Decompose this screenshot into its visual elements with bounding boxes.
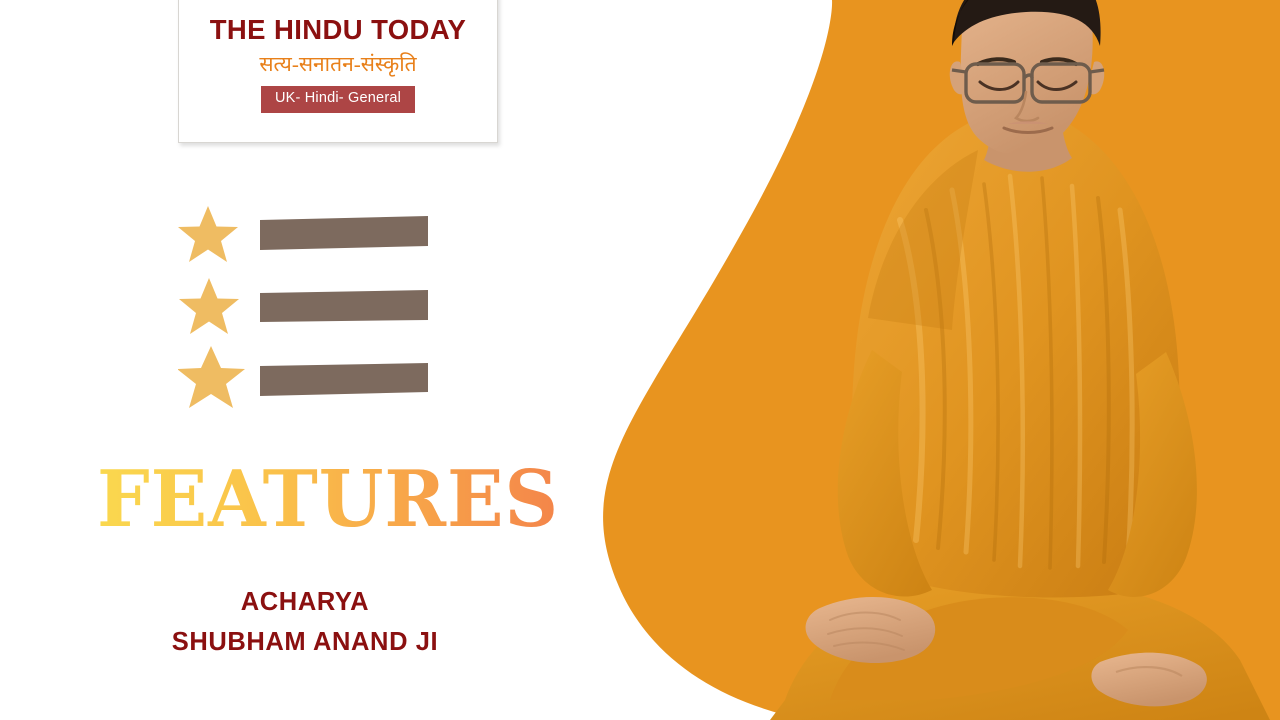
list-item: [179, 278, 428, 334]
star-icon: [178, 206, 238, 262]
headline-text: FEATURES: [97, 454, 559, 545]
artwork-illustration: [580, 0, 1280, 720]
bullet-list-graphic: [178, 196, 448, 414]
presenter-line-2: SHUBHAM ANAND JI: [40, 622, 570, 662]
star-icon: [179, 278, 239, 334]
poster-canvas: THE HINDU TODAY सत्य-सनातन-संस्कृति UK- …: [0, 0, 1280, 720]
headline-graphic: FEATURES: [88, 452, 568, 548]
placeholder-bar: [260, 216, 428, 250]
placeholder-bar: [260, 290, 428, 322]
masthead-card: THE HINDU TODAY सत्य-सनातन-संस्कृति UK- …: [178, 0, 498, 143]
status-badge: UK- Hindi- General: [261, 86, 415, 113]
artwork-panel: [580, 0, 1280, 720]
page-title: THE HINDU TODAY: [179, 0, 497, 45]
headline-wordmark: FEATURES: [88, 452, 568, 548]
list-item: [178, 206, 428, 262]
presenter-name: ACHARYA SHUBHAM ANAND JI: [40, 582, 570, 663]
placeholder-bar: [260, 363, 428, 396]
feature-bullet-list: [178, 196, 448, 414]
masthead-subtitle: सत्य-सनातन-संस्कृति: [179, 45, 497, 76]
presenter-line-1: ACHARYA: [40, 582, 570, 622]
star-icon: [178, 346, 245, 408]
list-item: [178, 346, 428, 408]
